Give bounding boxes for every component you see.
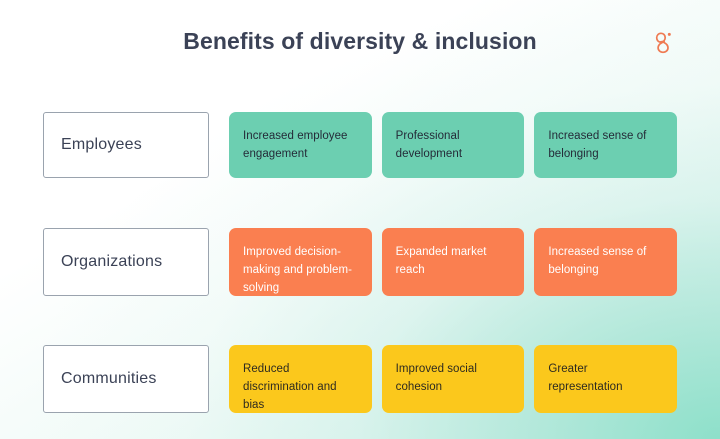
cards-employees: Increased employee engagement Profession… — [229, 112, 677, 178]
benefit-card[interactable]: Improved social cohesion — [382, 345, 525, 413]
benefit-card-text: Greater representation — [548, 363, 622, 393]
benefit-card-text: Improved social cohesion — [396, 363, 477, 393]
row-label-text: Employees — [61, 136, 142, 154]
cards-communities: Reduced discrimination and bias Improved… — [229, 345, 677, 413]
benefit-card[interactable]: Improved decision-making and problem-sol… — [229, 228, 372, 296]
benefit-card-text: Professional development — [396, 130, 462, 160]
row-employees: Employees Increased employee engagement … — [43, 112, 677, 178]
benefit-card[interactable]: Expanded market reach — [382, 228, 525, 296]
row-label-text: Organizations — [61, 253, 162, 271]
benefit-card-text: Expanded market reach — [396, 246, 487, 276]
benefit-card-text: Increased sense of belonging — [548, 130, 646, 160]
benefit-card-text: Increased employee engagement — [243, 130, 347, 160]
cards-organizations: Improved decision-making and problem-sol… — [229, 228, 677, 296]
g-logo-icon — [645, 28, 679, 62]
row-communities: Communities Reduced discrimination and b… — [43, 345, 677, 413]
row-label-communities[interactable]: Communities — [43, 345, 209, 413]
benefit-card[interactable]: Reduced discrimination and bias — [229, 345, 372, 413]
row-organizations: Organizations Improved decision-making a… — [43, 228, 677, 296]
slide-canvas: Benefits of diversity & inclusion Employ… — [0, 0, 720, 439]
row-label-employees[interactable]: Employees — [43, 112, 209, 178]
row-label-organizations[interactable]: Organizations — [43, 228, 209, 296]
row-label-text: Communities — [61, 370, 157, 388]
benefit-card-text: Reduced discrimination and bias — [243, 363, 337, 411]
benefit-card-text: Increased sense of belonging — [548, 246, 646, 276]
benefit-card[interactable]: Greater representation — [534, 345, 677, 413]
benefit-card[interactable]: Professional development — [382, 112, 525, 178]
benefit-card[interactable]: Increased sense of belonging — [534, 228, 677, 296]
slide-header: Benefits of diversity & inclusion — [0, 0, 720, 86]
benefit-card[interactable]: Increased sense of belonging — [534, 112, 677, 178]
page-title: Benefits of diversity & inclusion — [0, 28, 720, 55]
benefit-card-text: Improved decision-making and problem-sol… — [243, 246, 352, 294]
benefit-card[interactable]: Increased employee engagement — [229, 112, 372, 178]
